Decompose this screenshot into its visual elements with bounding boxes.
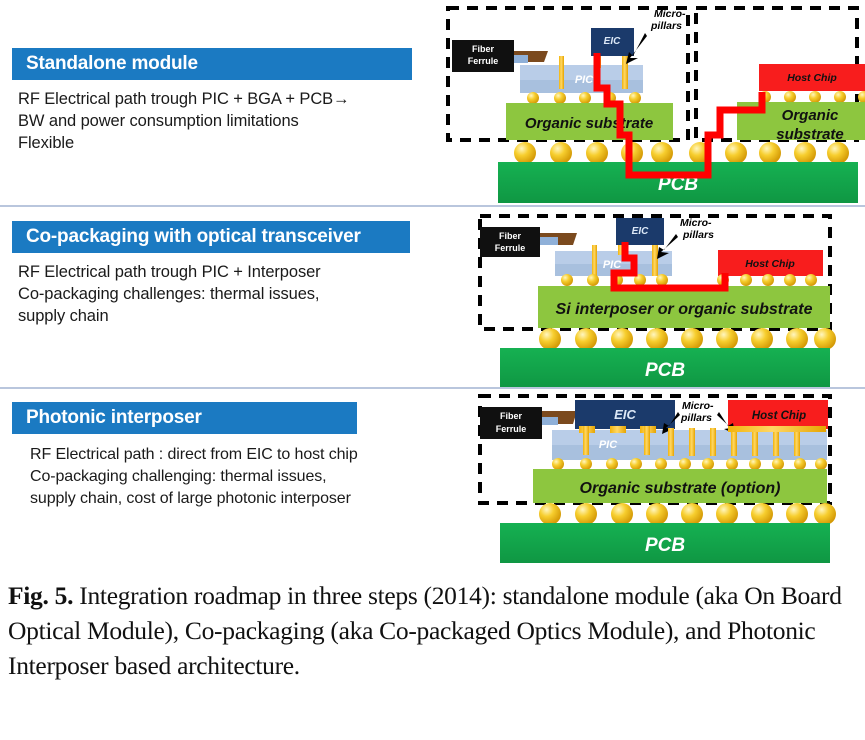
solder-balls-under-pic	[527, 92, 641, 104]
micropillar-icon	[689, 428, 695, 456]
micropillar-icon	[728, 426, 826, 432]
host-chip-label: Host Chip	[787, 72, 837, 84]
organic-substrate-right-label-line2: substrate	[776, 126, 844, 143]
figure-caption-text: Integration roadmap in three steps (2014…	[8, 581, 842, 680]
micropillar-icon	[610, 426, 626, 433]
solder-balls-under-host-chip	[759, 91, 865, 103]
pcb-label: PCB	[645, 535, 685, 556]
micropillars-label-line2: pillars	[682, 229, 714, 241]
pic-label: PIC	[603, 259, 622, 271]
micropillar-icon	[592, 245, 597, 276]
fiber-ferrule-label-line2: Ferrule	[495, 243, 526, 253]
diagram-standalone-module: Fiber Ferrule EIC PIC Micro- pillars	[440, 0, 865, 205]
eic-label: EIC	[614, 407, 636, 422]
micropillar-icon	[644, 426, 650, 455]
figure-caption-label: Fig. 5.	[8, 581, 73, 610]
section-photonic-interposer: Photonic interposer RF Electrical path :…	[0, 389, 865, 569]
bga-balls-to-pcb	[539, 328, 836, 350]
micropillar-icon	[652, 245, 658, 276]
figure-caption: Fig. 5. Integration roadmap in three ste…	[8, 578, 863, 683]
eic-label: EIC	[604, 36, 621, 47]
fiber-ferrule-label-line1: Fiber	[499, 231, 522, 241]
section-title-standalone: Standalone module	[12, 48, 412, 80]
section-standalone-module: Standalone module RF Electrical path tro…	[0, 0, 865, 205]
fiber-ferrule-label-line2: Ferrule	[496, 424, 527, 434]
pic-label: PIC	[599, 439, 618, 451]
fiber-ferrule-label-line1: Fiber	[472, 44, 495, 54]
section-co-packaging: Co-packaging with optical transceiver RF…	[0, 207, 865, 387]
host-chip-label: Host Chip	[745, 258, 795, 270]
micropillars-label-line1: Micro-	[654, 8, 686, 20]
micropillars-label-line2: pillars	[680, 412, 712, 424]
section-title-co-packaging: Co-packaging with optical transceiver	[12, 221, 410, 253]
micropillars-label-line1: Micro-	[682, 400, 714, 412]
fiber-ferrule-label-line1: Fiber	[500, 411, 523, 421]
eic-label: EIC	[632, 226, 649, 237]
bga-balls-to-pcb	[514, 142, 849, 164]
pcb-label: PCB	[645, 360, 685, 381]
organic-substrate-label: Organic substrate (option)	[580, 480, 781, 497]
micropillars-label-line1: Micro-	[680, 217, 712, 229]
micropillar-icon	[559, 56, 564, 89]
organic-substrate-right-label-line1: Organic	[782, 107, 839, 124]
micropillar-icon	[583, 426, 589, 455]
diagram-photonic-interposer: PIC Fiber Ferrule EIC Host Chip Micro- p…	[440, 390, 865, 570]
micropillars-label-line2: pillars	[650, 20, 682, 32]
section-title-label: Photonic interposer	[26, 407, 202, 429]
si-interposer-label: Si interposer or organic substrate	[556, 301, 813, 318]
section-title-label: Standalone module	[26, 53, 198, 75]
organic-substrate-left-label: Organic substrate	[525, 115, 653, 132]
micropillar-icon	[710, 428, 716, 456]
host-chip-label: Host Chip	[752, 410, 806, 422]
pic-label: PIC	[575, 74, 594, 86]
section-title-label: Co-packaging with optical transceiver	[26, 226, 361, 248]
diagram-co-packaging: Fiber Ferrule EIC PIC Micro- pillars Hos…	[440, 200, 865, 390]
fiber-ferrule-label-line2: Ferrule	[468, 56, 499, 66]
section-body-photonic-interposer: RF Electrical path : direct from EIC to …	[30, 444, 460, 510]
section-body-standalone: RF Electrical path trough PIC + BGA + PC…	[18, 88, 438, 154]
micropillar-icon	[668, 428, 674, 456]
section-body-co-packaging: RF Electrical path trough PIC + Interpos…	[18, 261, 438, 327]
bga-balls-to-pcb	[539, 503, 836, 525]
figure-integration-roadmap: Standalone module RF Electrical path tro…	[0, 0, 865, 740]
section-title-photonic-interposer: Photonic interposer	[12, 402, 357, 434]
